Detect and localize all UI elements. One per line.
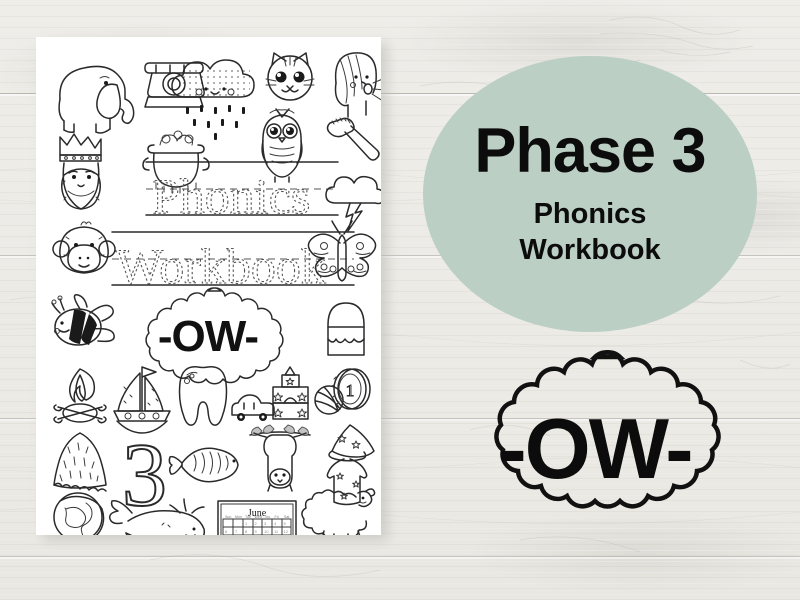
tracing-line-phonics: Phonics — [146, 162, 338, 224]
svg-text:Sun: Sun — [225, 515, 231, 519]
svg-text:Fri: Fri — [275, 515, 279, 519]
svg-text:Mon: Mon — [235, 515, 242, 519]
svg-text:12: 12 — [284, 529, 289, 534]
svg-text:Wed: Wed — [255, 515, 262, 519]
worksheet-ow-label: -OW- — [158, 312, 258, 361]
svg-text:10: 10 — [264, 529, 269, 534]
coin-value-label: 1 — [346, 381, 355, 400]
subtitle-line-1: Phonics — [534, 197, 647, 232]
ow-badge: -OW- — [430, 335, 760, 580]
subtitle-line-2: Workbook — [519, 233, 660, 268]
tracing-word-phonics: Phonics — [152, 168, 310, 224]
svg-text:Thu: Thu — [264, 515, 270, 519]
tracing-word-workbook: Workbook — [116, 238, 326, 294]
worksheet-page[interactable]: .ln{fill:none;stroke:#2a2a2a;stroke-widt… — [36, 37, 381, 535]
svg-text:Tue: Tue — [245, 515, 251, 519]
svg-text:Sat: Sat — [284, 515, 289, 519]
page-title: Phase 3 — [474, 120, 705, 183]
title-block: Phase 3 Phonics Workbook — [423, 56, 757, 332]
ow-badge-label: -OW- — [498, 402, 691, 497]
